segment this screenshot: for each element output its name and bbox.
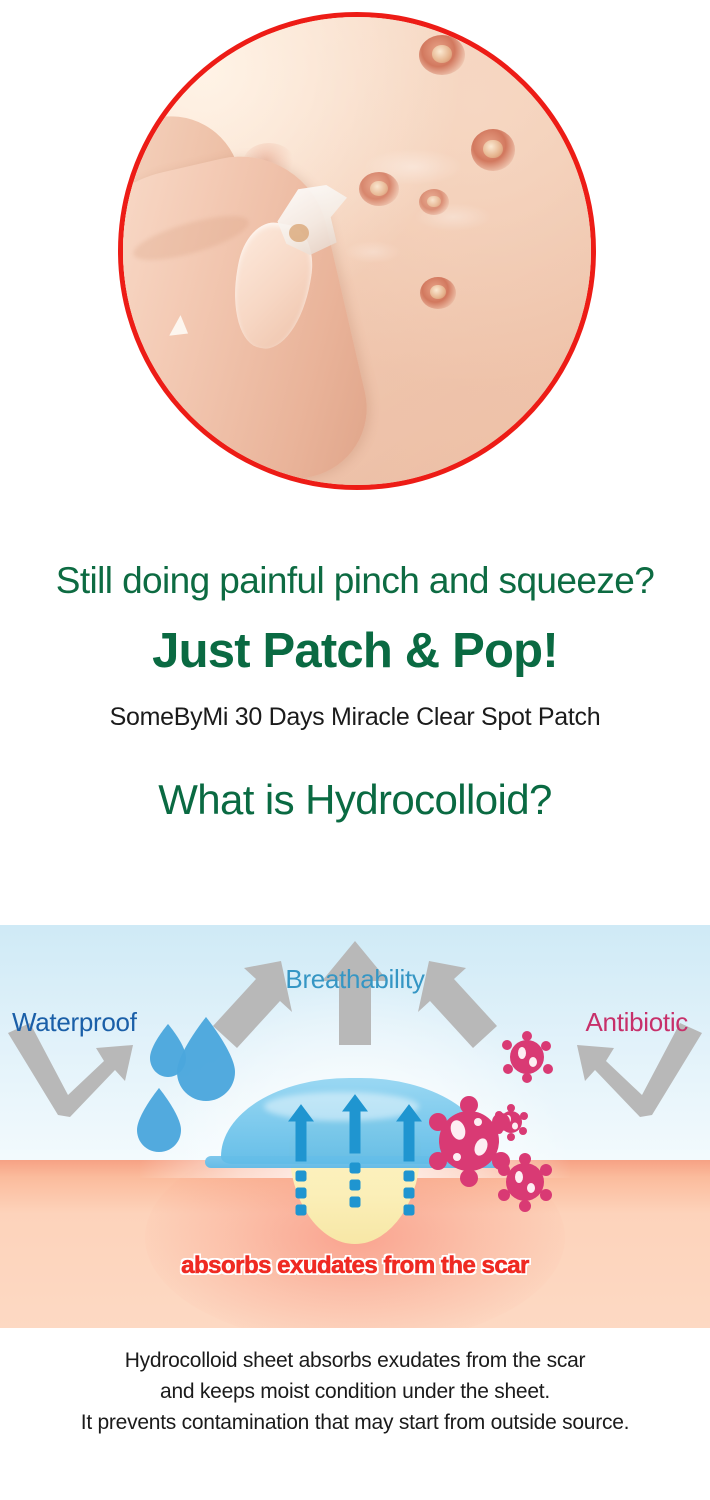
footer-line-1: Hydrocolloid sheet absorbs exudates from… [0, 1345, 710, 1376]
bacteria-icon [429, 1096, 510, 1187]
footer-line-2: and keeps moist condition under the shee… [0, 1376, 710, 1407]
acne-spot [471, 129, 515, 171]
label-breathability: Breathability [285, 966, 424, 992]
headline-block: Still doing painful pinch and squeeze? J… [0, 505, 710, 821]
section-heading: What is Hydrocolloid? [0, 779, 710, 821]
label-waterproof: Waterproof [12, 1009, 137, 1035]
absorbs-exudates-caption: absorbs exudates from the scar [181, 1252, 529, 1280]
absorption-arrow-icon [397, 1105, 421, 1215]
acne-spot [419, 189, 449, 215]
label-antibiotic: Antibiotic [586, 1009, 689, 1035]
bacteria-bounce-arrow-icon [577, 1023, 702, 1117]
acne-patch-photo [118, 12, 596, 490]
kicker-text: Still doing painful pinch and squeeze? [0, 562, 710, 599]
bacteria-icon [502, 1031, 553, 1083]
absorption-arrow-icon [289, 1105, 313, 1215]
hero-photo-block [0, 0, 710, 505]
footer-line-3: It prevents contamination that may start… [0, 1407, 710, 1438]
footer-description: Hydrocolloid sheet absorbs exudates from… [0, 1345, 710, 1438]
breathability-arrow-upleft-icon [213, 961, 292, 1048]
hydrocolloid-diagram: Waterproof Breathability Antibiotic abso… [0, 925, 710, 1328]
acne-spot [359, 172, 399, 206]
acne-spot [419, 35, 465, 75]
water-bounce-arrow-icon [8, 1023, 133, 1117]
hero-headline: Just Patch & Pop! [0, 627, 710, 676]
water-droplet-icon [137, 1088, 181, 1152]
product-name: SomeByMi 30 Days Miracle Clear Spot Patc… [0, 705, 710, 730]
absorption-arrow-icon [343, 1095, 367, 1207]
breathability-arrow-upright-icon [418, 961, 497, 1048]
acne-spot [420, 277, 456, 309]
